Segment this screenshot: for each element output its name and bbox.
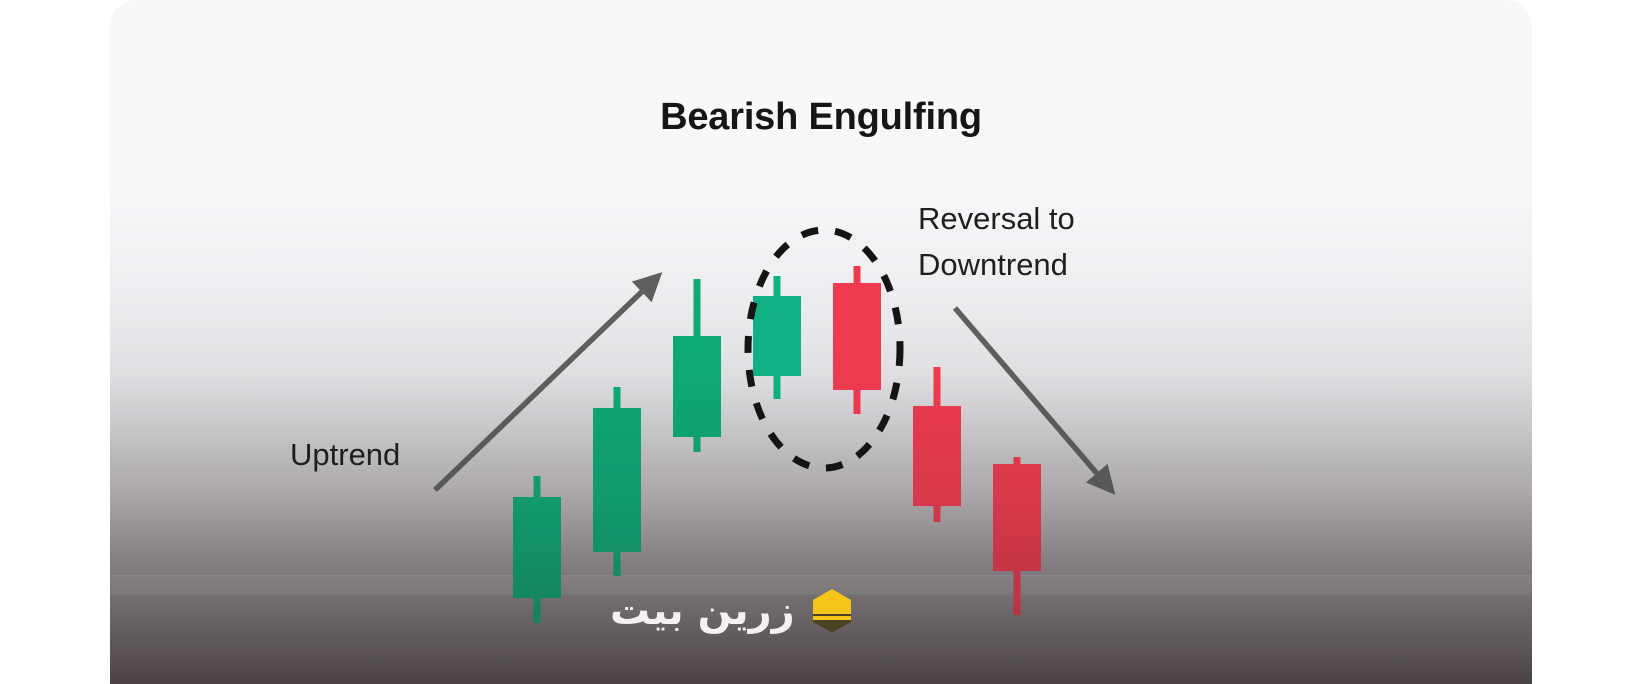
watermark-text: زرین بیت bbox=[610, 588, 795, 634]
hexagon-logo-icon bbox=[807, 586, 857, 636]
uptrend-label: Uptrend bbox=[290, 437, 400, 473]
pattern-illustration-card: Bearish Engulfing Reversal toDowntrend U… bbox=[110, 0, 1532, 684]
page-title: Bearish Engulfing bbox=[110, 96, 1532, 139]
screenshot-root: Bearish Engulfing Reversal toDowntrend U… bbox=[0, 0, 1635, 684]
reversal-label-line1: Reversal to bbox=[918, 201, 1075, 236]
reversal-label: Reversal toDowntrend bbox=[918, 196, 1075, 288]
reversal-label-line2: Downtrend bbox=[918, 247, 1068, 282]
watermark: زرین بیت bbox=[610, 586, 857, 636]
